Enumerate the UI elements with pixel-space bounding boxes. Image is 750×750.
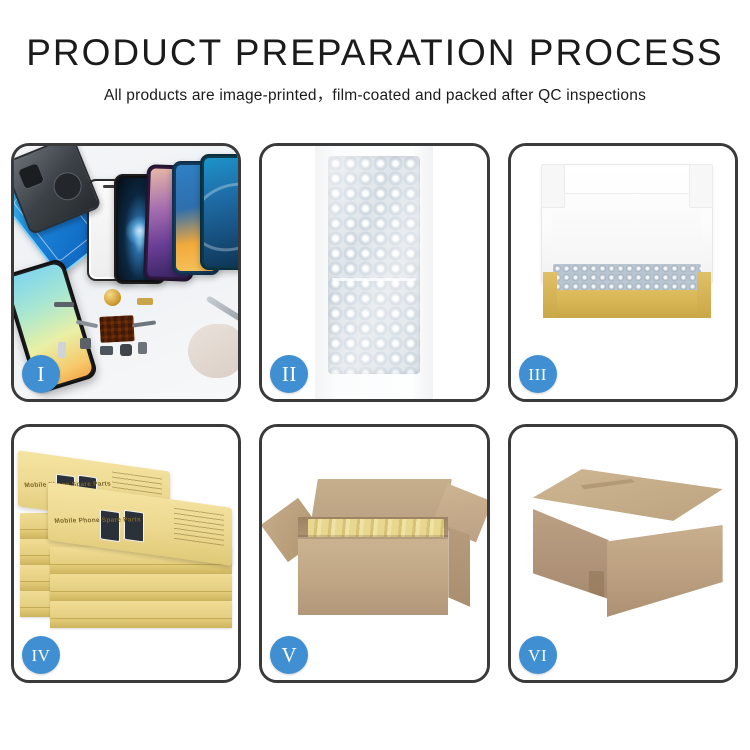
page-subtitle: All products are image-printed，film-coat…	[0, 85, 750, 107]
spare-part-strip-1	[54, 302, 74, 307]
carton-tape-lower	[589, 625, 604, 647]
yellow-inner-tray	[543, 272, 711, 318]
step-panel-4: Mobile Phone Spare Parts Mobile Phone Sp…	[11, 424, 241, 683]
step-panel-1: I	[11, 143, 241, 402]
carton-right-face	[607, 525, 723, 617]
carton-tape-upper	[589, 571, 604, 597]
step-badge-1: I	[22, 355, 60, 393]
stacked-box	[50, 574, 232, 601]
spare-part-connector-2	[100, 346, 113, 355]
stacked-box	[50, 601, 232, 628]
step-panel-3: III	[508, 143, 738, 402]
open-carton	[288, 485, 468, 617]
spare-part-sim-tray	[58, 342, 66, 358]
box-stack: Mobile Phone Spare Parts Mobile Phone Sp…	[18, 451, 236, 641]
step-panel-2: II	[259, 143, 489, 402]
spare-part-bracket	[137, 298, 153, 305]
step-panel-5: V	[259, 424, 489, 683]
step-badge-6: VI	[519, 636, 557, 674]
carton-front-face	[298, 537, 448, 615]
steps-grid: I II III	[11, 143, 738, 683]
step-badge-4: IV	[22, 636, 60, 674]
spare-part-chip-grid	[99, 315, 134, 343]
bubble-wrapped-contents	[553, 264, 701, 290]
phone-teal-display	[200, 154, 238, 270]
product-preparation-infographic: PRODUCT PREPARATION PROCESS All products…	[0, 0, 750, 750]
header: PRODUCT PREPARATION PROCESS All products…	[0, 0, 750, 107]
page-title: PRODUCT PREPARATION PROCESS	[0, 30, 750, 76]
spare-part-chip	[138, 342, 147, 354]
spare-part-flex-cable-2	[132, 320, 156, 327]
spare-part-camera-module	[120, 344, 132, 356]
spare-part-coin	[104, 289, 121, 306]
step-badge-3: III	[519, 355, 557, 393]
step-panel-6: VI	[508, 424, 738, 683]
carton-side-face	[448, 527, 470, 607]
sealed-carton	[533, 469, 723, 619]
bubble-wrap-pouch	[328, 156, 420, 374]
spare-part-connector-1	[80, 338, 91, 349]
hand	[188, 324, 238, 378]
tweezers-tool	[206, 295, 239, 322]
carton-left-face	[533, 507, 609, 599]
carton-top-seam	[577, 479, 671, 531]
